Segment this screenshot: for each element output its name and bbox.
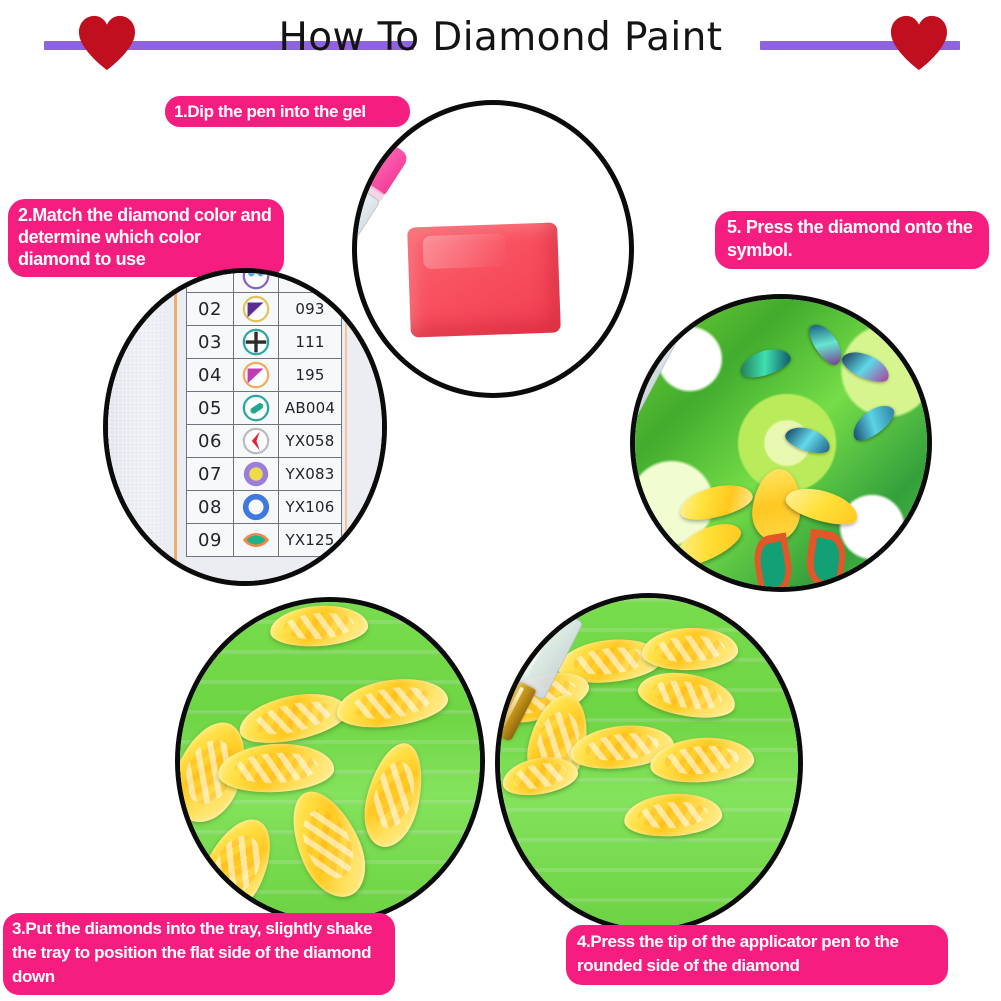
legend-symbol-plus-cross	[234, 326, 279, 359]
legend-row: 06YX058	[187, 425, 342, 458]
legend-row-code: 195	[279, 359, 342, 392]
photo-pen-picks-diamond	[495, 593, 803, 933]
legend-row: 04195	[187, 359, 342, 392]
legend-row-code: AB004	[279, 392, 342, 425]
step-5-label: 5. Press the diamond onto the symbol.	[715, 211, 989, 269]
legend-row-code: 093	[279, 293, 342, 326]
legend-row: 03111	[187, 326, 342, 359]
legend-row: 02093	[187, 293, 342, 326]
legend-row: 07YX083	[187, 458, 342, 491]
legend-table: 02002093031110419505AB00406YX05807YX0830…	[186, 268, 342, 557]
step-2-label: 2.Match the diamond color and determine …	[8, 199, 284, 277]
legend-row-number: 07	[187, 458, 234, 491]
legend-symbol-capsule-slash	[234, 392, 279, 425]
page-header: How To Diamond Paint	[0, 0, 1001, 88]
legend-row-code: YX125	[279, 524, 342, 557]
legend-row-number: 04	[187, 359, 234, 392]
step-3-label: 3.Put the diamonds into the tray, slight…	[3, 913, 395, 995]
photo-press-diamond-onto-symbol	[630, 294, 932, 592]
legend-row-number: 03	[187, 326, 234, 359]
legend-symbol-leaf-shape	[234, 524, 279, 557]
legend-row-code: YX058	[279, 425, 342, 458]
legend-symbol-open-ring	[234, 491, 279, 524]
canvas-fabric-edge	[103, 268, 164, 586]
legend-row-code: 020	[279, 268, 342, 293]
legend-row-number: 08	[187, 491, 234, 524]
legend-row-number: 06	[187, 425, 234, 458]
legend-row-number: 09	[187, 524, 234, 557]
legend-symbol-arrow-left-solid	[234, 425, 279, 458]
legend-row-code: 111	[279, 326, 342, 359]
legend-row-code: YX106	[279, 491, 342, 524]
orange-guide-line	[174, 268, 177, 586]
printed-canvas-sheet: 02002093031110419505AB00406YX05807YX0830…	[103, 268, 387, 586]
legend-row: 09YX125	[187, 524, 342, 557]
orange-guide-line	[345, 268, 347, 586]
photo-diamonds-in-tray	[175, 597, 485, 925]
page-title: How To Diamond Paint	[0, 16, 1001, 60]
step-4-label: 4.Press the tip of the applicator pen to…	[566, 925, 948, 985]
legend-symbol-triangle-corner	[234, 293, 279, 326]
gel-pad	[407, 222, 561, 337]
legend-row-number: 05	[187, 392, 234, 425]
legend-row-code: YX083	[279, 458, 342, 491]
photo-dip-pen-in-gel	[352, 100, 634, 398]
legend-row-number: 02	[187, 293, 234, 326]
legend-symbol-double-dot-circle	[234, 268, 279, 293]
legend-symbol-triangle-corner	[234, 359, 279, 392]
photo-color-legend-chart: 02002093031110419505AB00406YX05807YX0830…	[103, 268, 387, 586]
legend-row: 05AB004	[187, 392, 342, 425]
legend-symbol-ring-filled-dot	[234, 458, 279, 491]
legend-row: 08YX106	[187, 491, 342, 524]
